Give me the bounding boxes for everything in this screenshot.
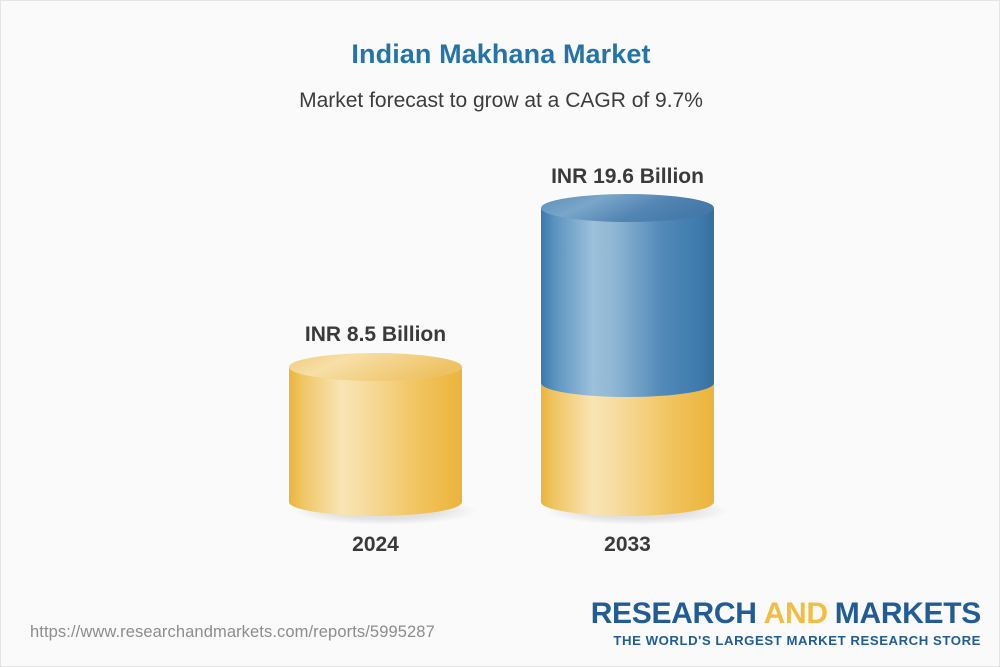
cylinder-2033-graphic [541,196,724,527]
logo-word-and: AND [764,597,828,630]
logo-wordmark: RESEARCHANDMARKETS [591,599,981,629]
logo-word-markets: MARKETS [835,597,981,630]
report-url[interactable]: https://www.researchandmarkets.com/repor… [30,623,435,642]
research-and-markets-logo[interactable]: RESEARCHANDMARKETS THE WORLD'S LARGEST M… [591,599,981,648]
cylinder-2024-graphic [289,355,472,527]
value-label-2024: INR 8.5 Billion [289,323,462,347]
value-label-2033: INR 19.6 Billion [541,165,714,189]
cylinder-2024 [289,355,462,527]
plot-area: INR 8.5 Billion [1,1,1000,601]
logo-word-research: RESEARCH [591,597,757,630]
cylinder-2033 [541,196,714,527]
chart-canvas: Indian Makhana Market Market forecast to… [0,0,1000,667]
logo-tagline: THE WORLD'S LARGEST MARKET RESEARCH STOR… [591,633,981,648]
category-label-2033: 2033 [541,533,714,557]
category-label-2024: 2024 [289,533,462,557]
